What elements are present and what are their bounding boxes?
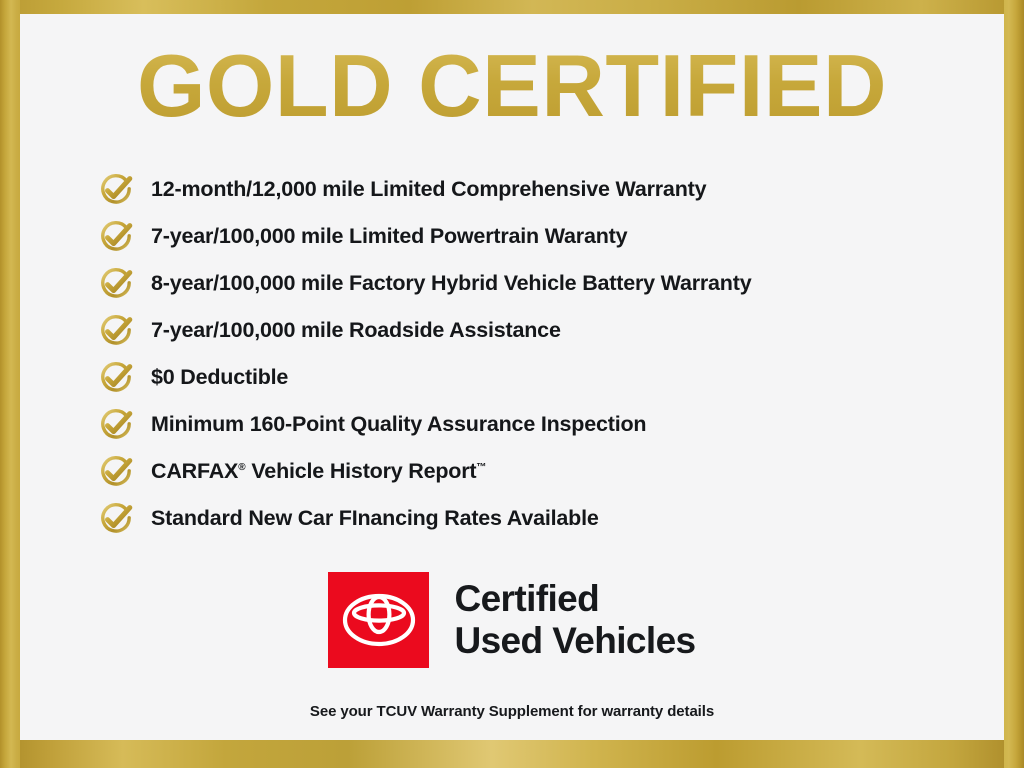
warranty-footnote: See your TCUV Warranty Supplement for wa… (0, 703, 1024, 720)
list-item-label: 12-month/12,000 mile Limited Comprehensi… (151, 179, 706, 201)
list-item-label: CARFAX® Vehicle History Report™ (151, 461, 486, 483)
gold-border-bottom (0, 740, 1024, 768)
list-item-label: 7-year/100,000 mile Limited Powertrain W… (151, 226, 627, 248)
list-item: 8-year/100,000 mile Factory Hybrid Vehic… (96, 260, 976, 307)
list-item: $0 Deductible (96, 354, 976, 401)
list-item-label-rest: Vehicle History Report (246, 459, 477, 483)
gold-check-circle-icon (96, 264, 136, 304)
feature-list: 12-month/12,000 mile Limited Comprehensi… (96, 166, 976, 542)
gold-check-circle-icon (96, 452, 136, 492)
lockup-line-2: Used Vehicles (454, 620, 695, 662)
gold-check-circle-icon (96, 405, 136, 445)
list-item-label: $0 Deductible (151, 367, 288, 389)
gold-check-circle-icon (96, 499, 136, 539)
list-item: 12-month/12,000 mile Limited Comprehensi… (96, 166, 976, 213)
list-item-label: 7-year/100,000 mile Roadside Assistance (151, 320, 561, 342)
lockup-line-1: Certified (454, 578, 695, 620)
gold-check-circle-icon (96, 170, 136, 210)
list-item: 7-year/100,000 mile Limited Powertrain W… (96, 213, 976, 260)
registered-mark: ® (238, 462, 245, 473)
list-item: CARFAX® Vehicle History Report™ (96, 448, 976, 495)
list-item: Standard New Car FInancing Rates Availab… (96, 495, 976, 542)
list-item: Minimum 160-Point Quality Assurance Insp… (96, 401, 976, 448)
gold-check-circle-icon (96, 311, 136, 351)
trademark-mark: ™ (476, 462, 486, 473)
gold-certified-poster: GOLD CERTIFIED 12-month/12,000 mile Limi… (0, 0, 1024, 768)
gold-border-top (0, 0, 1024, 14)
lockup-text: Certified Used Vehicles (454, 578, 695, 662)
gold-check-circle-icon (96, 358, 136, 398)
list-item-label: Standard New Car FInancing Rates Availab… (151, 508, 599, 530)
toyota-certified-used-vehicles-lockup: Certified Used Vehicles (0, 572, 1024, 668)
gold-check-circle-icon (96, 217, 136, 257)
list-item: 7-year/100,000 mile Roadside Assistance (96, 307, 976, 354)
toyota-emblem-icon (342, 591, 416, 649)
toyota-logo-tile (328, 572, 429, 668)
page-title: GOLD CERTIFIED (0, 42, 1024, 130)
carfax-wordmark: CARFAX (151, 459, 238, 483)
list-item-label: Minimum 160-Point Quality Assurance Insp… (151, 414, 646, 436)
list-item-label: 8-year/100,000 mile Factory Hybrid Vehic… (151, 273, 751, 295)
